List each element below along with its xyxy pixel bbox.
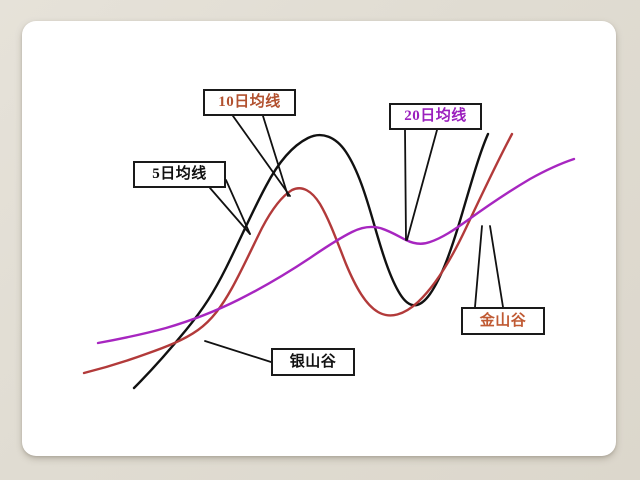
ma5-leader-b [226,180,250,234]
golden-leader-b [490,226,503,307]
callout-silver-valley[interactable]: 银山谷 [271,348,355,376]
callout-golden-valley[interactable]: 金山谷 [461,307,545,335]
callout-ma5[interactable]: 5日均线 [133,161,226,188]
callout-ma20-label: 20日均线 [404,109,467,124]
callout-ma10-label: 10日均线 [218,95,281,110]
moving-average-chart [0,0,640,480]
ma5-leader-a [210,188,250,234]
screenshot-canvas: 10日均线 5日均线 20日均线 银山谷 金山谷 [0,0,640,480]
callout-ma20[interactable]: 20日均线 [389,103,482,130]
ma10-leader-a [233,116,290,196]
leader-lines-group [205,116,503,362]
silver-leader [205,341,271,362]
ma20-leader-a [405,130,406,240]
callout-ma5-label: 5日均线 [152,167,207,182]
ma20-leader-b [407,130,437,240]
golden-leader-a [475,226,482,307]
callout-golden-valley-label: 金山谷 [480,314,527,329]
callout-ma10[interactable]: 10日均线 [203,89,296,116]
callout-silver-valley-label: 银山谷 [290,355,337,370]
